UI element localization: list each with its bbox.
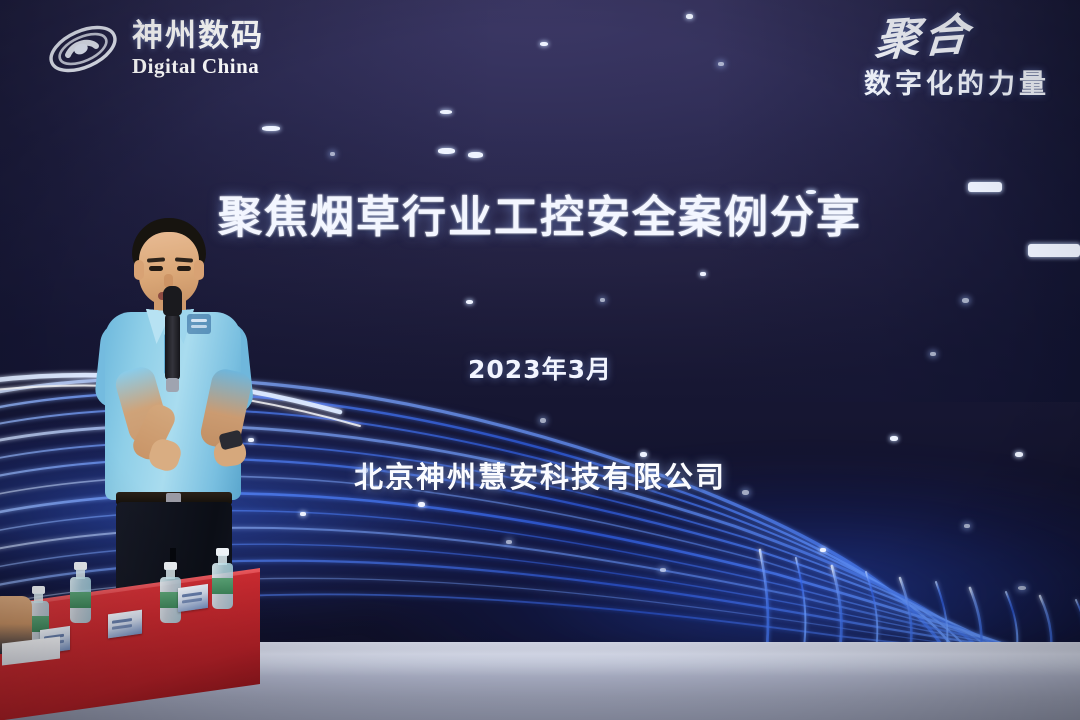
- speaker-eye-right: [177, 266, 191, 271]
- galaxy-swirl-icon: [44, 18, 122, 80]
- speaker-eye-left: [149, 266, 163, 271]
- slogan-subtitle: 数字化的力量: [864, 62, 1050, 101]
- microphone-head-icon: [163, 286, 182, 316]
- name-card: [108, 610, 142, 639]
- speaker-ear-left: [134, 260, 144, 280]
- microphone-body: [165, 314, 180, 380]
- name-card: [178, 584, 208, 612]
- brand-logo: 神州数码 Digital China: [44, 18, 264, 80]
- shirt-logo-icon: [187, 314, 211, 334]
- slogan-brush-text: 聚合: [862, 14, 974, 63]
- conference-photo: 神州数码 Digital China 聚合 数字化的力量 聚焦烟草行业工控安全案…: [0, 0, 1080, 720]
- event-slogan: 聚合 数字化的力量: [864, 14, 1050, 101]
- microphone-tip: [166, 378, 179, 392]
- speaker-ear-right: [194, 260, 204, 280]
- brand-name-en: Digital China: [132, 56, 264, 77]
- brand-name-cn: 神州数码: [132, 21, 264, 52]
